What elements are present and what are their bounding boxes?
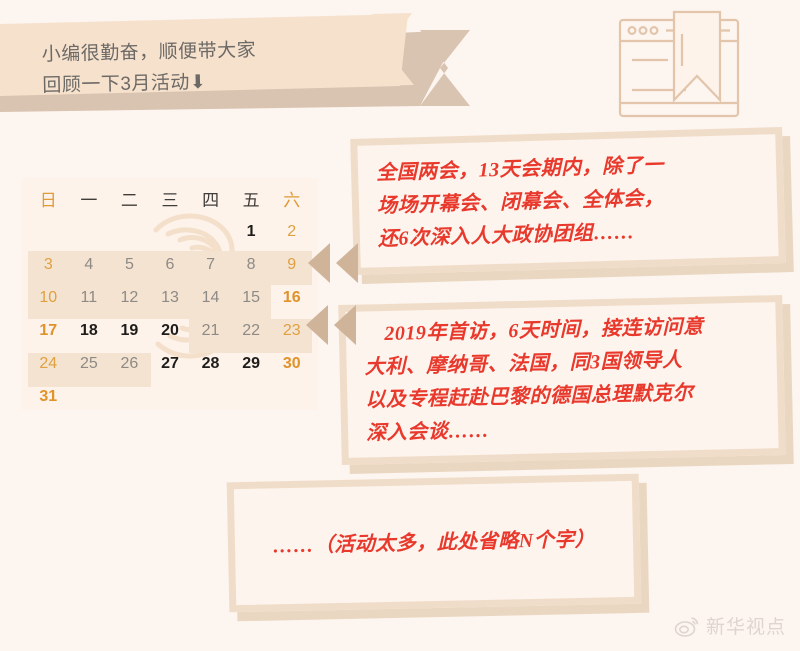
calendar-day bbox=[190, 380, 231, 413]
infographic-canvas: 小编很勤奋，顺便带大家 回顾一下3月活动⬇ bbox=[0, 0, 800, 651]
calendar-day bbox=[150, 215, 191, 248]
calendar-day: 21 bbox=[190, 314, 231, 347]
calendar-day: 10 bbox=[28, 281, 69, 314]
calendar-day bbox=[69, 215, 110, 248]
calendar-day: 20 bbox=[150, 314, 191, 347]
calendar-day: 6 bbox=[150, 248, 191, 281]
callout-text: 全国两会，13天会期内，除了一 场场开幕会、闭幕会、全体会， 还6次深入人大政协… bbox=[358, 148, 684, 256]
calendar-header-sat: 六 bbox=[271, 182, 312, 215]
calendar-day: 28 bbox=[190, 347, 231, 380]
calendar-day bbox=[109, 215, 150, 248]
calendar-header-mon: 一 bbox=[69, 182, 110, 215]
calendar-day bbox=[190, 215, 231, 248]
calendar-day: 19 bbox=[109, 314, 150, 347]
ribbon-line-1: 小编很勤奋，顺便带大家 bbox=[41, 33, 372, 71]
calendar-day: 30 bbox=[271, 347, 312, 380]
calendar-header-tue: 二 bbox=[109, 182, 150, 215]
calendar-day: 25 bbox=[69, 347, 110, 380]
callout-text: 2019年首访，6天时间，接连访问意 大利、摩纳哥、法国，同3国领导人 以及专程… bbox=[346, 310, 724, 450]
callout-line: 深入会谈…… bbox=[366, 410, 706, 451]
calendar-day: 8 bbox=[231, 248, 272, 281]
callout-body: ……（活动太多，此处省略N个字） bbox=[234, 481, 634, 605]
callout-europe-visit: 2019年首访，6天时间，接连访问意 大利、摩纳哥、法国，同3国领导人 以及专程… bbox=[338, 295, 786, 465]
weibo-watermark: 新华视点 bbox=[674, 612, 786, 639]
calendar-header-fri: 五 bbox=[231, 182, 272, 215]
calendar-grid: 日 一 二 三 四 五 六 1 2 3 4 5 6 7 8 9 10 11 bbox=[22, 178, 318, 410]
calendar-day: 5 bbox=[109, 248, 150, 281]
calendar-day: 22 bbox=[231, 314, 272, 347]
double-chevron-left-icon bbox=[298, 305, 360, 345]
calendar-day: 12 bbox=[109, 281, 150, 314]
calendar-day: 27 bbox=[150, 347, 191, 380]
browser-bookmark-icon bbox=[612, 8, 752, 123]
double-chevron-left-icon bbox=[300, 243, 362, 283]
bookmark-icon-svg bbox=[612, 8, 752, 123]
calendar-day: 1 bbox=[231, 215, 272, 248]
march-calendar: 日 一 二 三 四 五 六 1 2 3 4 5 6 7 8 9 10 11 bbox=[22, 178, 318, 410]
calendar-day: 14 bbox=[190, 281, 231, 314]
calendar-day bbox=[109, 380, 150, 413]
callout-body: 2019年首访，6天时间，接连访问意 大利、摩纳哥、法国，同3国领导人 以及专程… bbox=[345, 302, 778, 458]
calendar-day: 15 bbox=[231, 281, 272, 314]
calendar-day bbox=[28, 215, 69, 248]
weibo-logo-icon bbox=[674, 615, 700, 637]
ribbon-line-2-text: 回顾一下3月活动 bbox=[42, 72, 190, 96]
callout-two-sessions: 全国两会，13天会期内，除了一 场场开幕会、闭幕会、全体会， 还6次深入人大政协… bbox=[350, 127, 786, 275]
callout-body: 全国两会，13天会期内，除了一 场场开幕会、闭幕会、全体会， 还6次深入人大政协… bbox=[357, 134, 778, 268]
calendar-day: 24 bbox=[28, 347, 69, 380]
calendar-day: 3 bbox=[28, 248, 69, 281]
callout-omitted: ……（活动太多，此处省略N个字） bbox=[227, 474, 642, 613]
watermark-label: 新华视点 bbox=[706, 612, 786, 639]
calendar-day: 26 bbox=[109, 347, 150, 380]
calendar-day: 7 bbox=[190, 248, 231, 281]
calendar-day bbox=[271, 380, 312, 413]
calendar-day bbox=[150, 380, 191, 413]
callout-line: ……（活动太多，此处省略N个字） bbox=[253, 523, 616, 564]
calendar-day: 11 bbox=[69, 281, 110, 314]
ribbon-line-2: 回顾一下3月活动⬇ bbox=[42, 64, 373, 102]
calendar-day: 13 bbox=[150, 281, 191, 314]
calendar-day: 31 bbox=[28, 380, 69, 413]
calendar-day: 17 bbox=[28, 314, 69, 347]
ribbon-text-block: 小编很勤奋，顺便带大家 回顾一下3月活动⬇ bbox=[41, 33, 372, 102]
calendar-day: 29 bbox=[231, 347, 272, 380]
calendar-header-thu: 四 bbox=[190, 182, 231, 215]
calendar-header-wed: 三 bbox=[150, 182, 191, 215]
calendar-day bbox=[231, 380, 272, 413]
calendar-day: 18 bbox=[69, 314, 110, 347]
callout-text: ……（活动太多，此处省略N个字） bbox=[235, 522, 634, 563]
ribbon-shape bbox=[0, 0, 500, 130]
arrow-down-icon: ⬇ bbox=[190, 72, 207, 93]
intro-ribbon: 小编很勤奋，顺便带大家 回顾一下3月活动⬇ bbox=[0, 0, 500, 130]
calendar-header-sun: 日 bbox=[28, 182, 69, 215]
calendar-day bbox=[69, 380, 110, 413]
calendar-day: 4 bbox=[69, 248, 110, 281]
